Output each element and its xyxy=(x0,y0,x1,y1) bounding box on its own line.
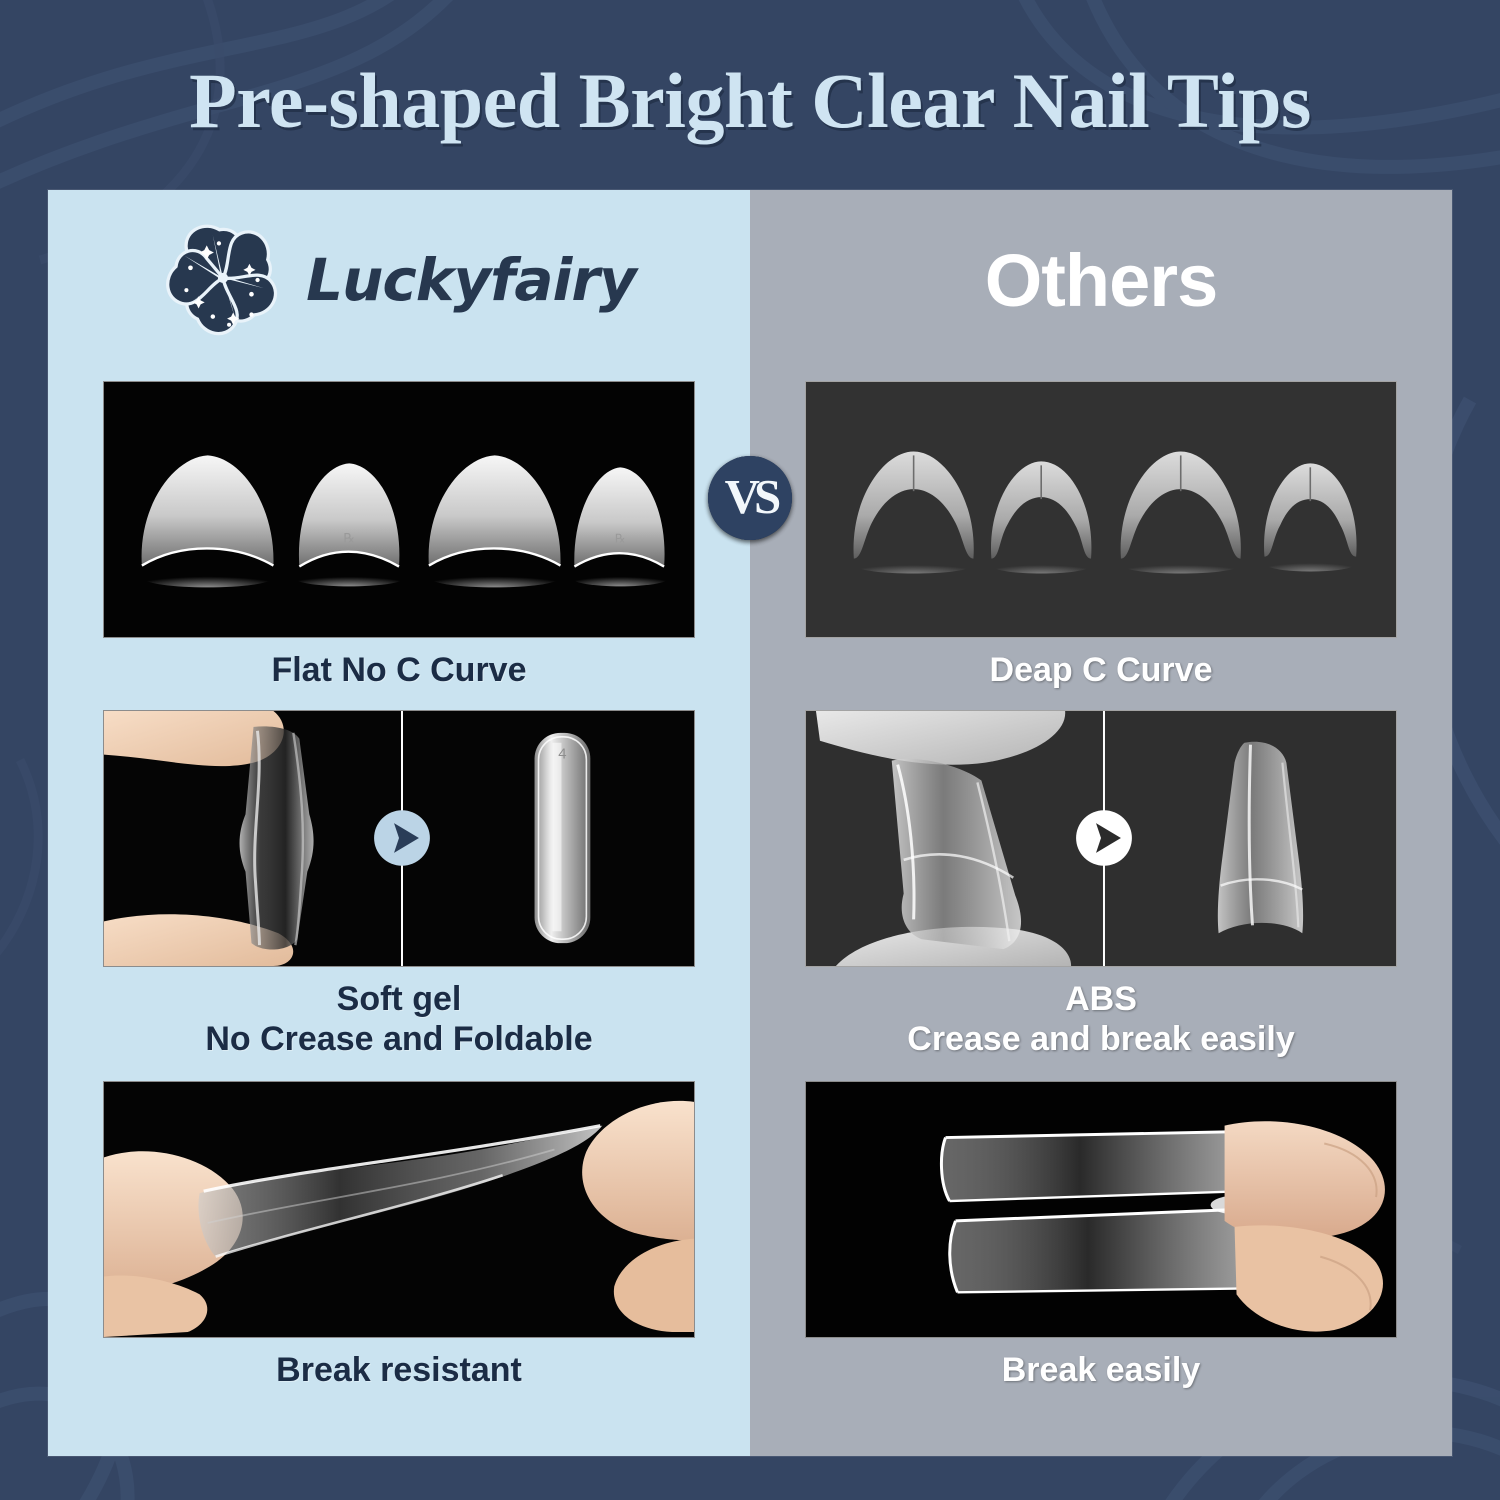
row-3-brand-caption-line1: Break resistant xyxy=(276,1350,522,1390)
comparison-panel: Luckyfairy Others xyxy=(48,190,1452,1456)
row-3-brand-caption: Break resistant xyxy=(276,1350,522,1390)
row-2-others-caption-line1: ABS xyxy=(907,979,1294,1019)
row-2-others-caption: ABS Crease and break easily xyxy=(907,979,1294,1059)
row-3-others-caption-line1: Break easily xyxy=(1002,1350,1201,1390)
row-1-others-caption-line1: Deap C Curve xyxy=(990,650,1213,690)
row-2-brand-caption: Soft gel No Crease and Foldable xyxy=(205,979,592,1059)
row-2-others-image xyxy=(805,710,1397,967)
row-1-brand-caption: Flat No C Curve xyxy=(271,650,526,690)
row-1-others-caption: Deap C Curve xyxy=(990,650,1213,690)
svg-text:℞: ℞ xyxy=(343,531,355,546)
brand-name: Luckyfairy xyxy=(306,246,636,314)
row-3-others-image xyxy=(805,1081,1397,1338)
play-arrow-icon xyxy=(1076,810,1132,866)
others-header: Others xyxy=(750,190,1452,370)
others-heading: Others xyxy=(985,238,1218,323)
row-3-brand-image xyxy=(103,1081,695,1338)
row-1-brand-image: ℞ ℞ xyxy=(103,381,695,638)
play-arrow-icon xyxy=(374,810,430,866)
vs-badge-row-3: VS xyxy=(708,456,792,540)
tip-size-marking: 4 xyxy=(558,747,566,763)
comparison-rows: ℞ ℞ xyxy=(48,370,1452,1390)
svg-text:℞: ℞ xyxy=(615,532,626,546)
brand-header: Luckyfairy xyxy=(48,190,750,370)
row-2-others-caption-line2: Crease and break easily xyxy=(907,1019,1294,1059)
page-title: Pre-shaped Bright Clear Nail Tips xyxy=(0,56,1500,146)
row-1-others-cell: Deap C Curve xyxy=(750,381,1452,690)
row-3-brand-cell: Break resistant xyxy=(48,1081,750,1390)
vs-badge-label-3: VS xyxy=(725,472,776,521)
comparison-row-3: Break resistant xyxy=(48,1081,1452,1390)
row-3-others-cell: Break easily xyxy=(750,1081,1452,1390)
row-2-brand-image: 4 xyxy=(103,710,695,967)
row-2-brand-caption-line2: No Crease and Foldable xyxy=(205,1019,592,1059)
row-1-others-image xyxy=(805,381,1397,638)
row-1-brand-caption-line1: Flat No C Curve xyxy=(271,650,526,690)
row-3-others-caption: Break easily xyxy=(1002,1350,1201,1390)
comparison-row-2: 4 Soft gel No Crease and Foldable xyxy=(48,710,1452,1059)
row-1-brand-cell: ℞ ℞ xyxy=(48,381,750,690)
row-2-brand-caption-line1: Soft gel xyxy=(205,979,592,1019)
five-petal-flower-sparkle-icon xyxy=(162,219,284,341)
row-2-brand-cell: 4 Soft gel No Crease and Foldable xyxy=(48,710,750,1059)
row-2-others-cell: ABS Crease and break easily xyxy=(750,710,1452,1059)
